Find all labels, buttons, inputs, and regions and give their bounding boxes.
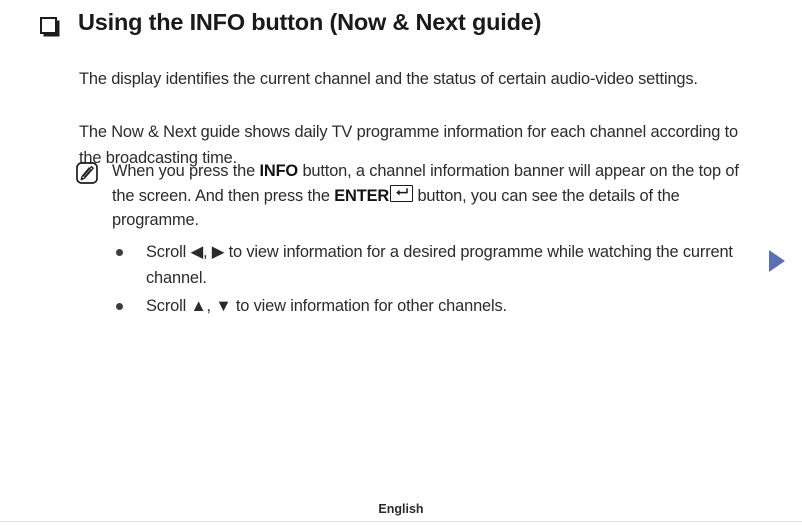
note-pencil-icon — [76, 162, 98, 184]
list-item: Scroll ▲, ▼ to view information for othe… — [110, 294, 770, 320]
manual-page: Using the INFO button (Now & Next guide)… — [0, 0, 802, 525]
note-text-part-1: When you press the — [112, 162, 259, 180]
dot-bullet-icon — [116, 249, 123, 256]
scroll-instructions-list: Scroll ◀, ▶ to view information for a de… — [110, 240, 770, 322]
footer-language-label: English — [0, 502, 802, 516]
intro-paragraph-1: The display identifies the current chann… — [79, 66, 757, 92]
next-page-triangle-icon[interactable] — [769, 250, 785, 272]
page-title: Using the INFO button (Now & Next guide) — [78, 8, 541, 37]
dot-bullet-icon — [116, 303, 123, 310]
square-outline-bullet-icon — [40, 17, 57, 34]
note-emphasis-enter: ENTER — [334, 187, 389, 205]
enter-return-arrow-icon — [390, 185, 413, 202]
page-heading: Using the INFO button (Now & Next guide) — [40, 8, 760, 37]
note-text: When you press the INFO button, a channe… — [112, 159, 764, 233]
note-block: When you press the INFO button, a channe… — [76, 159, 766, 233]
list-item-label: Scroll ▲, ▼ to view information for othe… — [146, 297, 507, 315]
note-emphasis-info: INFO — [259, 162, 298, 180]
list-item-label: Scroll ◀, ▶ to view information for a de… — [146, 243, 733, 287]
list-item: Scroll ◀, ▶ to view information for a de… — [110, 240, 770, 291]
footer-divider — [0, 521, 802, 522]
